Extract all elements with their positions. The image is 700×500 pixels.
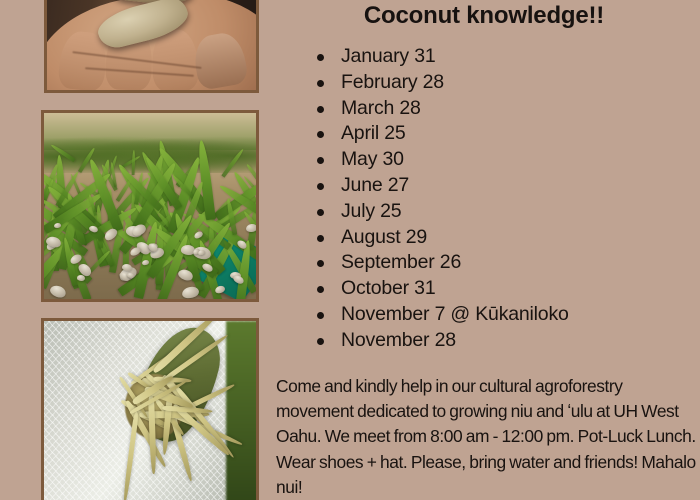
list-item: October 31	[312, 276, 700, 302]
bullet-icon	[317, 286, 324, 293]
date-label: November 7 @ Kūkaniloko	[341, 303, 569, 325]
date-label: November 28	[341, 329, 456, 351]
date-label: May 30	[341, 148, 404, 170]
list-item: January 31	[312, 44, 700, 70]
photo-hand-holding-niu-sprouts	[44, 0, 259, 93]
photo-niu-seedling-nursery-rows	[41, 110, 259, 302]
workday-date-list: January 31February 28March 28April 25May…	[312, 44, 700, 354]
date-label: September 26	[341, 251, 461, 273]
poster-canvas: HI'IAKA Coconut knowledge!! January 31Fe…	[0, 0, 700, 500]
date-label: June 27	[341, 174, 409, 196]
page-title: Coconut knowledge!!	[268, 2, 700, 30]
event-description: Come and kindly help in our cultural agr…	[276, 374, 700, 500]
text-column: HI'IAKA Coconut knowledge!! January 31Fe…	[268, 0, 700, 500]
list-item: June 27	[312, 173, 700, 199]
list-item: September 26	[312, 250, 700, 276]
list-item: May 30	[312, 147, 700, 173]
bullet-icon	[317, 106, 324, 113]
list-item: November 7 @ Kūkaniloko	[312, 302, 700, 328]
list-item: August 29	[312, 225, 700, 251]
bullet-icon	[317, 209, 324, 216]
list-item: November 28	[312, 328, 700, 354]
list-item: July 25	[312, 199, 700, 225]
bullet-icon	[317, 80, 324, 87]
bullet-icon	[317, 131, 324, 138]
list-item: February 28	[312, 70, 700, 96]
bullet-icon	[317, 183, 324, 190]
bullet-icon	[317, 338, 324, 345]
bullet-icon	[317, 54, 324, 61]
date-label: August 29	[341, 226, 427, 248]
list-item: April 25	[312, 121, 700, 147]
bullet-icon	[317, 260, 324, 267]
bullet-icon	[317, 157, 324, 164]
list-item: March 28	[312, 96, 700, 122]
date-label: October 31	[341, 277, 435, 299]
bullet-icon	[317, 235, 324, 242]
date-label: February 28	[341, 71, 444, 93]
date-label: January 31	[341, 45, 435, 67]
bullet-icon	[317, 312, 324, 319]
date-label: July 25	[341, 200, 401, 222]
photo-coconut-inflorescence-on-netting	[41, 318, 259, 500]
date-label: March 28	[341, 97, 421, 119]
date-label: April 25	[341, 122, 406, 144]
